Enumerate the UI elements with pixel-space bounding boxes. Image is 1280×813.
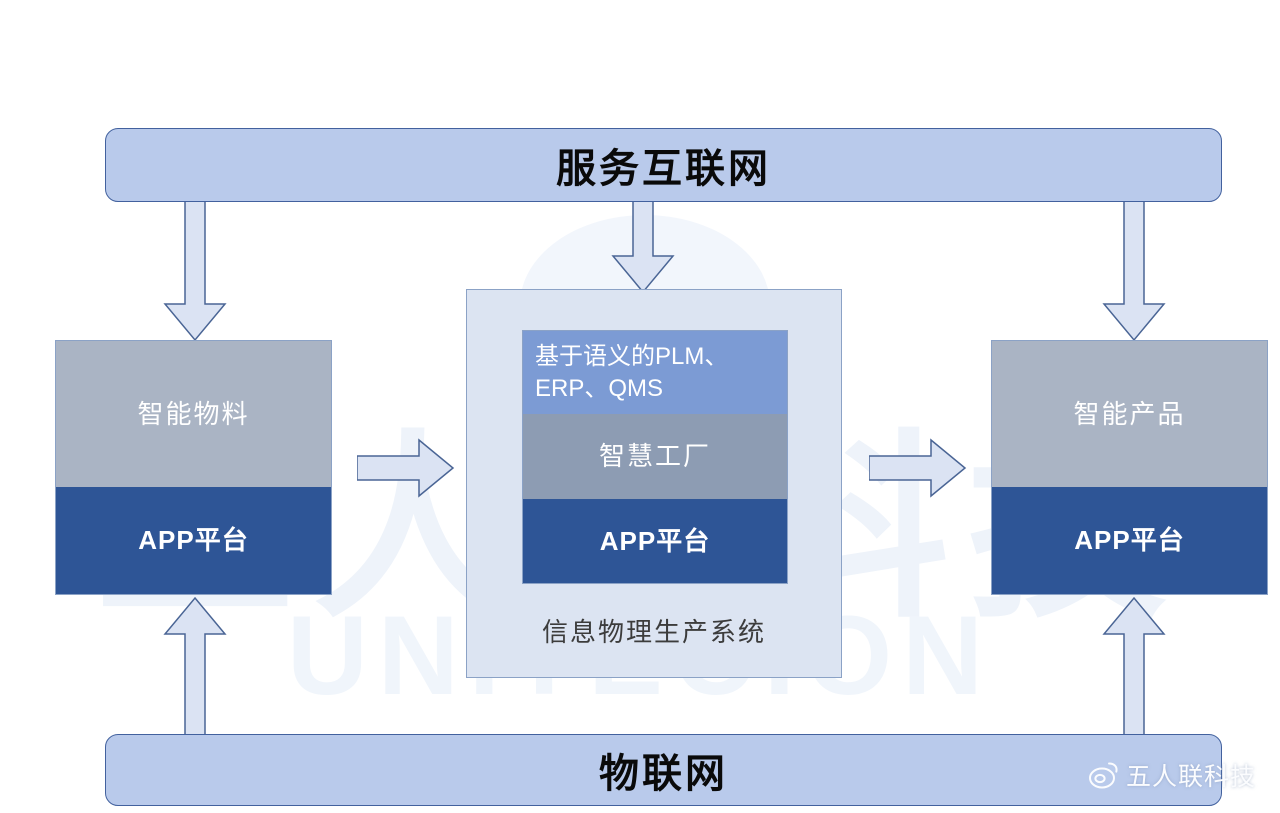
smart-material-label: 智能物料 — [137, 398, 249, 431]
app-platform-layer-center[interactable]: APP平台 — [523, 499, 787, 583]
semantic-plm-erp-qms-layer[interactable]: 基于语义的PLM、ERP、QMS — [523, 331, 787, 414]
cyber-physical-production-system-panel[interactable]: 基于语义的PLM、ERP、QMS 智慧工厂 APP平台 信息物理生产系统 — [466, 289, 842, 678]
app-platform-label-center: APP平台 — [600, 525, 710, 558]
smart-product-layer[interactable]: 智能产品 — [992, 341, 1267, 487]
smart-factory-layer[interactable]: 智慧工厂 — [523, 414, 787, 499]
app-platform-layer-right[interactable]: APP平台 — [992, 487, 1267, 594]
arrow-top-left-down-icon — [163, 196, 227, 342]
banner-internet-of-things[interactable]: 物联网 — [105, 734, 1222, 806]
smart-product-stack[interactable]: 智能产品 APP平台 — [991, 340, 1268, 595]
banner-top-label: 服务互联网 — [556, 136, 771, 194]
arrow-mid-left-right-icon — [357, 438, 455, 498]
center-panel-caption: 信息物理生产系统 — [467, 612, 841, 649]
arrow-top-right-down-icon — [1102, 196, 1166, 342]
arrow-top-center-down-icon — [611, 196, 675, 294]
banner-service-internet[interactable]: 服务互联网 — [105, 128, 1222, 202]
smart-factory-label: 智慧工厂 — [599, 440, 711, 473]
arrow-bottom-left-up-icon — [163, 596, 227, 736]
app-platform-layer-left[interactable]: APP平台 — [56, 487, 331, 594]
semantic-plm-erp-qms-label: 基于语义的PLM、ERP、QMS — [535, 341, 775, 404]
arrow-mid-right-right-icon — [869, 438, 967, 498]
smart-product-label: 智能产品 — [1073, 398, 1185, 431]
app-platform-label-left: APP平台 — [138, 524, 248, 557]
app-platform-label-right: APP平台 — [1074, 524, 1184, 557]
smart-material-stack[interactable]: 智能物料 APP平台 — [55, 340, 332, 595]
banner-bottom-label: 物联网 — [599, 741, 728, 799]
arrow-bottom-right-up-icon — [1102, 596, 1166, 736]
smart-material-layer[interactable]: 智能物料 — [56, 341, 331, 487]
center-layer-stack[interactable]: 基于语义的PLM、ERP、QMS 智慧工厂 APP平台 — [522, 330, 788, 584]
